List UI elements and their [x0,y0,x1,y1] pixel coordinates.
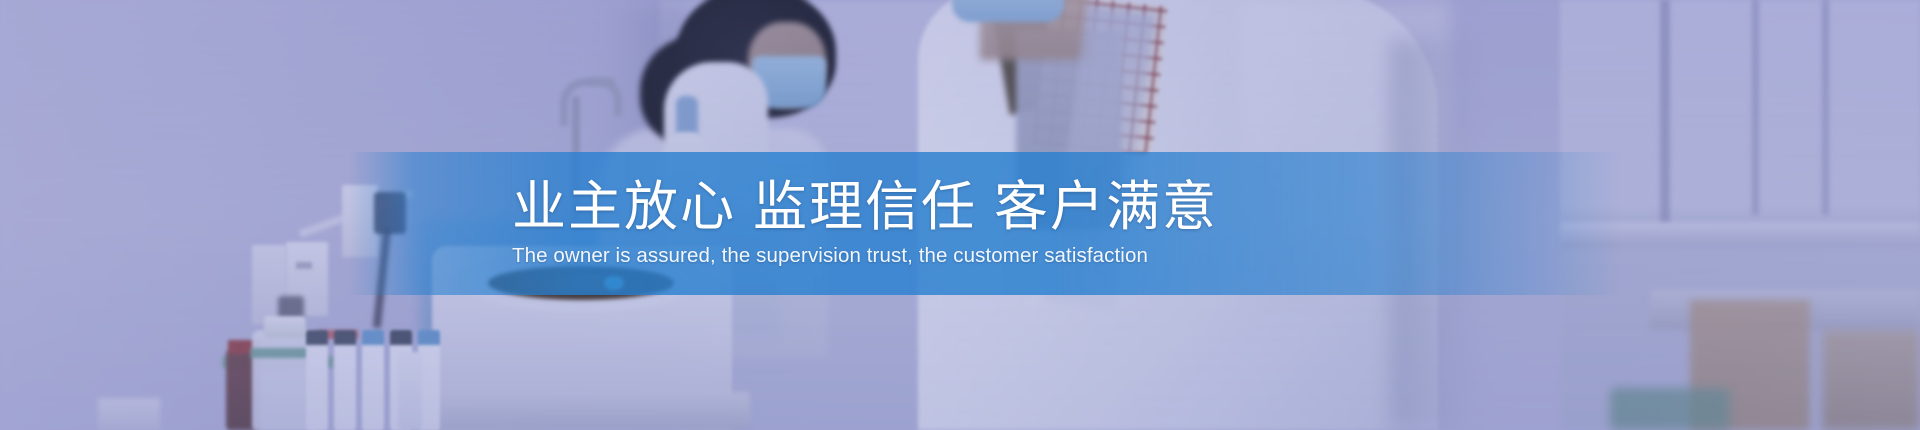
lab-counter-right [1650,290,1920,330]
caption-text-block: 业主放心 监理信任 客户满意 The owner is assured, the… [350,152,1620,295]
water-bottle [252,330,318,430]
checkered-shirt [1032,0,1167,156]
sample-vial [306,330,328,430]
face-mask [952,0,1064,22]
faucet-spout [560,78,614,126]
power-outlet [286,242,328,316]
sample-vial [334,330,356,430]
headline-chinese: 业主放心 监理信任 客户满意 [512,179,1620,235]
sample-vial [390,330,412,430]
reagent-bottle [226,350,260,430]
subheadline-english: The owner is assured, the supervision tr… [512,244,1620,269]
faucet-spout [588,78,622,116]
power-plug [278,296,304,330]
foreground-person-neck [980,0,1090,60]
green-tray [1610,388,1730,430]
bottle-cap [228,340,260,354]
window-mullion [1752,0,1759,215]
sample-vial [418,330,440,430]
outlet-socket [296,262,312,269]
window-mullion [1660,0,1670,230]
window-mullion [1822,0,1829,215]
cardboard-box [1690,300,1810,430]
bottle-cap [264,316,306,338]
technician-head [676,0,836,118]
shirt-collar [991,0,1075,115]
label-strip [318,330,358,339]
pipette-tip [678,320,694,400]
pipette-plunger [676,96,698,142]
bench-surface [420,392,750,430]
test-tube [398,352,422,430]
bottle-label-ring [250,348,322,358]
face-mask [752,56,826,108]
background-person-head [640,36,752,146]
vial-rack [222,356,334,368]
hero-banner: 业主放心 监理信任 客户满意 The owner is assured, the… [0,0,1920,430]
face-mask [700,104,758,144]
technician-face [748,22,826,108]
power-outlet [252,245,286,325]
sample-vial [362,330,384,430]
wall-shelf [98,398,160,430]
cardboard-box [1822,330,1920,430]
